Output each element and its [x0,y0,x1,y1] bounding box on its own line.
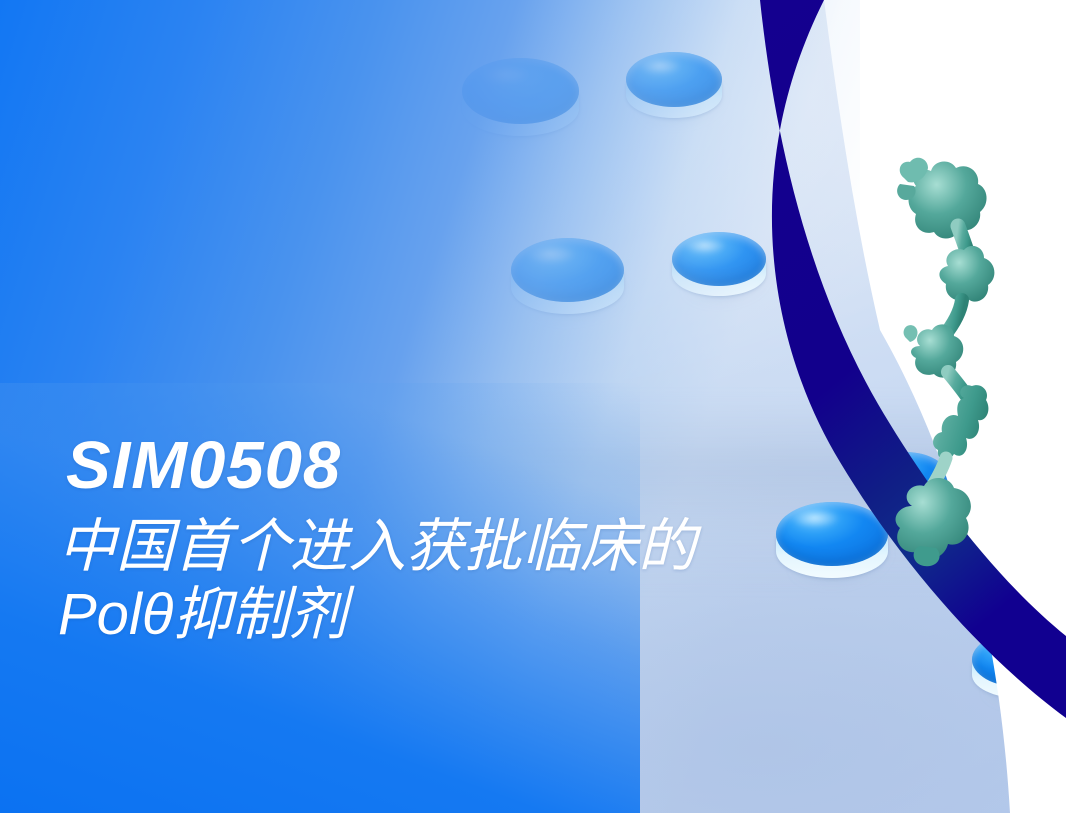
slide-canvas: SIM0508 中国首个进入获批临床的 Polθ抑制剂 [0,0,1066,813]
polymerase-theta-protein-ribbon [886,150,1036,580]
